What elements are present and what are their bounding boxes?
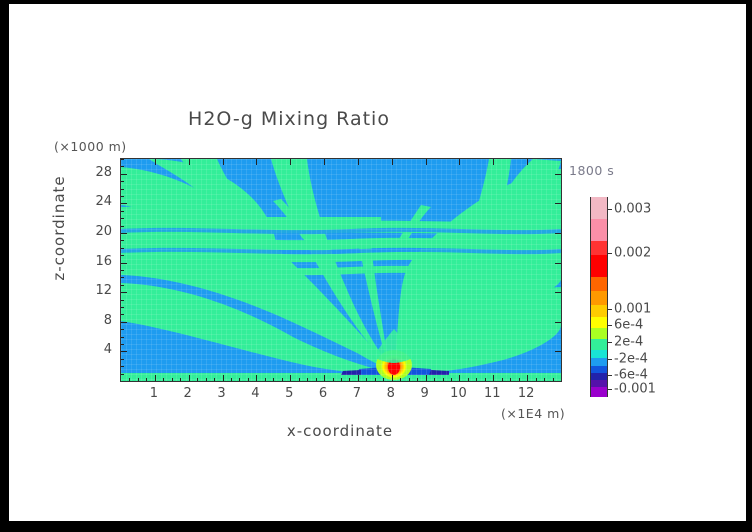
contour-field [121,159,561,381]
x-tick-label: 4 [240,386,270,401]
colorbar-tick [608,342,612,343]
figure-canvas: H2O-g Mixing Ratio (×1000 m) 1800 s z-co… [9,4,746,521]
y-minor-tick [121,344,124,345]
colorbar-band [590,219,608,241]
y-tick-label: 8 [82,313,112,328]
x-minor-tick [239,378,240,381]
x-minor-tick [316,378,317,381]
y-minor-tick [121,255,124,256]
y-minor-tick [121,248,124,249]
y-tick-label: 16 [82,254,112,269]
x-minor-tick [231,378,232,381]
x-tick [459,159,460,165]
x-tick [290,159,291,165]
x-tick [358,159,359,165]
colorbar-label: 0.003 [614,202,651,217]
colorbar-band [590,291,608,305]
x-minor-tick [468,378,469,381]
x-minor-tick [544,378,545,381]
colorbar-band [590,350,608,358]
x-minor-tick [434,378,435,381]
y-minor-tick [121,285,124,286]
x-minor-tick [172,378,173,381]
x-minor-tick [197,378,198,381]
y-minor-tick [121,218,124,219]
y-tick [121,292,127,293]
x-minor-tick [206,378,207,381]
x-minor-tick [502,378,503,381]
x-minor-tick [129,378,130,381]
x-tick [527,159,528,165]
y-tick [121,203,127,204]
y-minor-tick [121,359,124,360]
x-tick [223,159,224,165]
contour-plot-area[interactable] [120,158,562,382]
x-minor-tick [282,378,283,381]
y-tick-label: 20 [82,224,112,239]
x-minor-tick [265,378,266,381]
x-minor-tick [519,378,520,381]
x-tick [256,159,257,165]
x-tick [392,375,393,381]
colorbar-tick [608,389,612,390]
x-minor-tick [138,378,139,381]
colorbar-label: 0.002 [614,246,651,261]
x-tick [324,375,325,381]
x-tick-label: 3 [207,386,237,401]
y-minor-tick [121,196,124,197]
x-tick [426,159,427,165]
y-minor-tick [121,337,124,338]
x-tick [290,375,291,381]
x-tick-label: 6 [308,386,338,401]
x-minor-tick [146,378,147,381]
y-tick [555,174,561,175]
y-tick-label: 24 [82,194,112,209]
colorbar-band [590,339,608,350]
colorbar-top-arrow-icon [590,186,608,197]
y-tick-label: 4 [82,342,112,357]
y-tick [555,203,561,204]
y-tick [121,263,127,264]
x-tick-label: 9 [410,386,440,401]
x-tick [493,159,494,165]
y-minor-tick [121,166,124,167]
x-axis-title: x-coordinate [120,422,560,440]
x-minor-tick [333,378,334,381]
x-tick [155,375,156,381]
colorbar-band [590,380,608,387]
colorbar-band [590,305,608,317]
x-minor-tick [443,378,444,381]
colorbar-tick [608,309,612,310]
y-tick [555,263,561,264]
colorbar-band [590,373,608,380]
x-minor-tick [510,378,511,381]
x-minor-tick [451,378,452,381]
x-minor-tick [341,378,342,381]
colorbar-label: 6e-4 [614,318,643,333]
x-minor-tick [299,378,300,381]
colorbar-label: 0.001 [614,302,651,317]
colorbar-label: -2e-4 [614,352,648,367]
x-tick [189,375,190,381]
y-minor-tick [121,329,124,330]
x-tick-label: 12 [511,386,541,401]
page-title: H2O-g Mixing Ratio [9,108,569,130]
y-tick [555,322,561,323]
x-tick [358,375,359,381]
time-annotation: 1800 s [569,163,614,178]
y-tick [555,351,561,352]
colorbar-tick [608,253,612,254]
x-tick-label: 11 [477,386,507,401]
x-tick [426,375,427,381]
x-minor-tick [214,378,215,381]
y-tick-label: 28 [82,165,112,180]
x-minor-tick [553,378,554,381]
colorbar-tick [608,375,612,376]
x-minor-tick [163,378,164,381]
colorbar-band [590,328,608,339]
x-tick-label: 7 [342,386,372,401]
colorbar-tick [608,359,612,360]
y-tick [121,322,127,323]
colorbar-band [590,358,608,366]
x-tick [527,375,528,381]
x-minor-tick [307,378,308,381]
x-minor-tick [400,378,401,381]
x-tick [223,375,224,381]
y-tick [555,233,561,234]
y-minor-tick [121,240,124,241]
y-minor-tick [121,277,124,278]
colorbar-band [590,277,608,291]
colorbar-band [590,255,608,277]
x-tick-label: 2 [173,386,203,401]
y-tick [121,233,127,234]
y-minor-tick [121,366,124,367]
x-tick [324,159,325,165]
x-tick [155,159,156,165]
colorbar[interactable]: 0.0030.0020.0016e-42e-4-2e-4-6e-4-0.001 [590,197,608,397]
colorbar-label: -0.001 [614,382,656,397]
y-minor-tick [121,300,124,301]
x-minor-tick [409,378,410,381]
x-minor-tick [366,378,367,381]
colorbar-tick [608,209,612,210]
colorbar-band [590,197,608,219]
x-tick-label: 5 [274,386,304,401]
x-tick-label: 10 [443,386,473,401]
colorbar-label: 2e-4 [614,335,643,350]
y-tick-label: 12 [82,283,112,298]
y-minor-tick [121,381,124,382]
y-minor-tick [121,226,124,227]
x-minor-tick [248,378,249,381]
x-tick [392,159,393,165]
x-minor-tick [273,378,274,381]
x-minor-tick [180,378,181,381]
x-minor-tick [485,378,486,381]
x-tick [256,375,257,381]
y-minor-tick [121,314,124,315]
x-tick-label: 1 [139,386,169,401]
y-tick [555,292,561,293]
y-minor-tick [121,159,124,160]
x-minor-tick [476,378,477,381]
colorbar-band [590,387,608,397]
x-tick [189,159,190,165]
x-minor-tick [349,378,350,381]
x-minor-tick [417,378,418,381]
colorbar-band [590,366,608,373]
colorbar-label: -6e-4 [614,368,648,383]
colorbar-band [590,317,608,328]
y-minor-tick [121,211,124,212]
y-minor-tick [121,181,124,182]
y-minor-tick [121,307,124,308]
x-axis-unit-label: (×1E4 m) [501,406,565,421]
x-tick-label: 8 [376,386,406,401]
y-minor-tick [121,270,124,271]
y-minor-tick [121,189,124,190]
x-tick [459,375,460,381]
colorbar-band [590,241,608,255]
y-tick [121,174,127,175]
y-minor-tick [121,374,124,375]
x-minor-tick [536,378,537,381]
y-tick [121,351,127,352]
x-tick [493,375,494,381]
y-axis-title: z-coordinate [50,148,68,308]
colorbar-tick [608,325,612,326]
x-minor-tick [375,378,376,381]
x-minor-tick [383,378,384,381]
